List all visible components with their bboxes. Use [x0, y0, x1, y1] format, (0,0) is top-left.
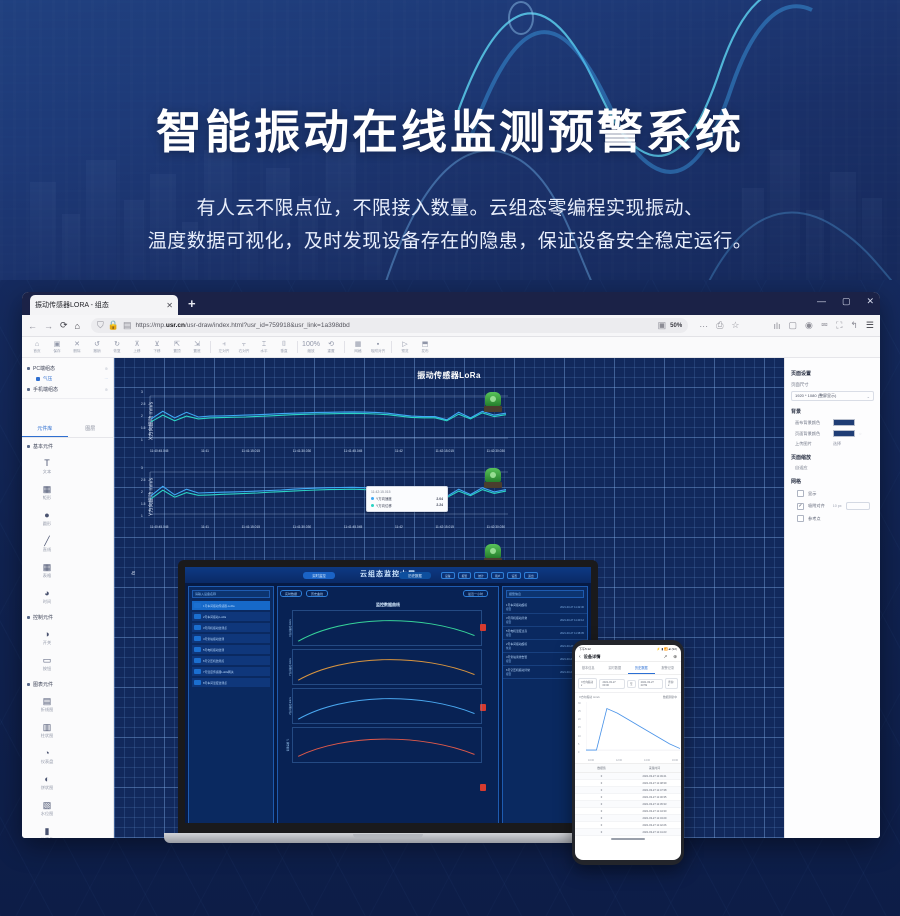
device-icon — [194, 636, 201, 641]
alarm-indicator[interactable] — [480, 624, 486, 631]
screenshot-icon[interactable]: ⛶ — [836, 320, 842, 331]
toolbar-button-17[interactable]: ▷预览 — [395, 341, 415, 354]
component-折线图[interactable]: ▤折线图 — [26, 691, 68, 717]
toolbar-button-2[interactable]: ✕删除 — [67, 341, 87, 354]
toolbar-icon: ▣ — [47, 341, 67, 349]
toolbar-icon: ⌂ — [27, 341, 47, 349]
tree-add-icon[interactable]: ⊕ — [105, 366, 108, 371]
chart-plot: X方向振动 mm/s — [292, 610, 482, 646]
phone-filter[interactable]: 查询 ▾ — [665, 678, 678, 689]
bookmark-star-icon[interactable]: ☆ — [731, 320, 739, 331]
checkbox-label: 参考点 — [808, 516, 821, 522]
xtick: 11:41:15.015 — [242, 525, 260, 529]
component-icon: ◔ — [26, 748, 68, 759]
label-canvas-bg: 画布背景颜色 — [795, 420, 829, 426]
toolbar-button-9[interactable]: ⫞左对齐 — [214, 341, 234, 354]
component-icon: ▧ — [26, 800, 68, 811]
component-grid: ◑开关▭按钮 — [22, 624, 113, 676]
checkbox-label: 显示 — [808, 491, 816, 497]
toolbar-label: 删除 — [67, 349, 87, 354]
component-水位图[interactable]: ▧水位图 — [26, 795, 68, 821]
subtitle-line-2: 温度数据可视化，及时发现设备存在的隐患，保证设备安全稳定运行。 — [0, 225, 900, 258]
component-圆形[interactable]: ●圆形 — [26, 505, 68, 531]
component-仪表盘[interactable]: ◔仪表盘 — [26, 743, 68, 769]
toolbar-icon: ⌷ — [274, 341, 294, 349]
toolbar-button-10[interactable]: ⫟右对齐 — [234, 341, 254, 354]
device-list-item[interactable]: 8号车间温度监测点 — [192, 678, 270, 687]
toolbar-button-0[interactable]: ⌂首页 — [27, 341, 47, 354]
grid-checkbox-1[interactable]: ✓吸附对齐10 px — [797, 502, 874, 510]
cell-time: 2021-03-27 11:48:39 — [628, 780, 681, 786]
browser-navbar: ← → ⟳ ⌂ ⛉ 🔒 ▤ https://mp.usr.cn/usr-draw… — [22, 315, 880, 337]
component-时间[interactable]: ◕时间 — [26, 583, 68, 609]
dashboard-nav-报警[interactable]: 报警 — [458, 572, 472, 579]
phone-table-row: 02021-03-27 11:49:41 — [575, 773, 681, 780]
phone-filter[interactable]: X方向振动 ▾ — [578, 678, 597, 689]
left-tab-1[interactable]: 图层 — [68, 421, 114, 437]
phone-refresh-status: 数据刷新中 — [663, 695, 677, 699]
phone-table-row: 02021-03-27 11:44:30 — [575, 808, 681, 815]
toolbar-label: 重置 — [321, 349, 341, 354]
account-icon[interactable]: ◉ — [805, 320, 813, 331]
component-library: 基本元件T文本▦矩形●圆形╱直线▦表格◕时间控制元件◑开关▭按钮图表元件▤折线图… — [22, 438, 113, 838]
checkbox-icon[interactable]: ✓ — [797, 503, 804, 510]
phone-table-header: 数据值采集时间 — [575, 763, 681, 773]
sidebar-icon[interactable]: ▢ — [788, 320, 797, 331]
tooltip-series-name: Y方向速度 — [376, 496, 392, 501]
grid-checkbox-0[interactable]: 显示 — [797, 490, 874, 497]
cell-time: 2021-03-27 11:46:35 — [628, 794, 681, 800]
toolbar-icon: ⬒ — [415, 341, 435, 349]
row-page-bg-color[interactable]: 页面背景颜色 ◌ — [795, 430, 874, 437]
dashboard-nav-pills: 设备报警统计用户设置退出 — [441, 572, 538, 579]
tooltip-series-value: 2.24 — [436, 503, 443, 507]
toolbar-label: 首页 — [27, 349, 47, 354]
grid-size-input[interactable] — [846, 502, 870, 510]
xtick: 11:42:30.030 — [487, 525, 505, 529]
toolbar-button-8[interactable]: ⇲置底 — [187, 341, 207, 354]
cell-value: 0 — [575, 822, 628, 828]
tooltip-time: 11:42:15.015 — [371, 490, 443, 494]
left-tab-0[interactable]: 元件库 — [22, 421, 68, 437]
page-subtitle: 有人云不限点位，不限接入数量。云组态零编程实现振动、 温度数据可视化，及时发现设… — [0, 192, 900, 258]
component-表格[interactable]: ▦表格 — [26, 557, 68, 583]
cell-time: 2021-03-27 11:44:30 — [628, 808, 681, 814]
device-icon — [194, 669, 201, 674]
component-group-0[interactable]: 基本元件 — [22, 438, 113, 453]
toolbar-button-4[interactable]: ↻恢复 — [107, 341, 127, 354]
alarm-status: 报警 — [506, 620, 527, 624]
phone-xtick: 12:00 — [616, 759, 622, 762]
toolbar-icon: ⟲ — [321, 341, 341, 349]
component-label: 仪表盘 — [26, 759, 68, 765]
component-label: 折线图 — [26, 707, 68, 713]
phone-ytick: 5 — [578, 743, 581, 746]
device-list-item[interactable]: 3号风机振动监测点 — [192, 623, 270, 632]
alarm-panel-title: 报警信息 — [509, 592, 521, 596]
phone-tab[interactable]: 基本信息 — [575, 662, 602, 674]
component-group-1[interactable]: 控制元件 — [22, 609, 113, 624]
alarm-row[interactable]: 5号电机温度过高报警2021-03-27 11:38:05 — [503, 627, 587, 640]
dashboard-tab-active[interactable]: 实时监控 — [303, 572, 335, 579]
phone-ytick: 15 — [578, 726, 581, 729]
component-icon: ◐ — [26, 774, 68, 785]
toolbar-label: 保存 — [47, 349, 67, 354]
phone-filter[interactable]: 2021-03-27 00:00 — [599, 679, 625, 689]
device-search-placeholder: 请输入设备名称 — [195, 592, 216, 596]
component-grid: T文本▦矩形●圆形╱直线▦表格◕时间 — [22, 453, 113, 609]
component-进度条[interactable]: ▮进度条 — [26, 821, 68, 838]
tree-node-label: 手机端组态 — [33, 386, 58, 393]
device-label: 5号电机振动监测 — [203, 648, 224, 652]
chart-ylabel: 设备温度 ℃ — [285, 739, 289, 752]
alarm-row[interactable]: 3号风机振动异常报警2021-03-27 11:40:12 — [503, 614, 587, 627]
phone-xtick: 14:00 — [644, 759, 650, 762]
menu-icon[interactable]: ☰ — [866, 320, 874, 331]
phone-menu-icon[interactable]: ⊕ — [673, 654, 677, 660]
status-icons: ⚡ ▮ 📶 ▰ (92) — [657, 647, 677, 651]
xtick: 11:41 — [201, 525, 209, 529]
toolbar-label: 预览 — [395, 349, 415, 354]
toolbar-separator — [210, 341, 211, 353]
tooltip-row: Y方向位移 2.24 — [371, 503, 443, 508]
alarm-row[interactable]: 1号车间振动超标报警2021-03-27 11:42:30 — [503, 601, 587, 614]
reset-color-icon[interactable]: ◌ — [859, 431, 861, 436]
cell-time: 2021-03-27 11:42:26 — [628, 822, 681, 828]
cell-value: 0 — [575, 829, 628, 835]
component-直线[interactable]: ╱直线 — [26, 531, 68, 557]
zoom-level-indicator[interactable]: 50% — [670, 323, 682, 329]
page-tree: PC端组态⊕气压···手机端组态⊕ — [22, 358, 113, 399]
time-range-select[interactable]: 最近一小时 — [463, 590, 488, 597]
cell-value: 0 — [575, 773, 628, 779]
dashboard-chart-1: Y方向振动 mm/s — [278, 649, 498, 685]
device-label: 1号车间振动传感器-LoRa — [203, 604, 235, 608]
alarm-filter-input[interactable]: 报警信息 — [506, 590, 584, 598]
phone-table-row: 02021-03-27 11:48:39 — [575, 780, 681, 787]
chart-y-direction[interactable]: Y方向振动 mm/s 32.521.51 11:40:45.04511:4111… — [136, 466, 511, 528]
phone-table-row: 02021-03-27 11:43:29 — [575, 815, 681, 822]
component-icon: ▥ — [26, 722, 68, 733]
tooltip-series-value: 2.04 — [436, 497, 443, 501]
toolbar-label: 发布 — [415, 349, 435, 354]
chip-history[interactable]: 历史曲线 — [306, 590, 328, 597]
chart-y-xticks: 11:40:45.04511:4111:41:15.01511:41:30.03… — [150, 525, 505, 529]
tab-close-icon[interactable]: ✕ — [163, 301, 173, 310]
component-grid: ▤折线图▥柱状图◔仪表盘◐饼状图▧水位图▮进度条▣数据表⌁指示灯 — [22, 691, 113, 838]
laptop-screen: 云组态监控大屏 实时监控 历史数据 设备报警统计用户设置退出 请输入设备名称 1… — [178, 560, 598, 833]
component-饼状图[interactable]: ◐饼状图 — [26, 769, 68, 795]
dashboard-nav-设备[interactable]: 设备 — [441, 572, 455, 579]
toolbar-button-7[interactable]: ⇱置顶 — [167, 341, 187, 354]
dashboard-chart-list: X方向振动 mm/sY方向振动 mm/sZ方向振动 mm/s设备温度 ℃ — [278, 610, 498, 763]
toolbar-label: 左对齐 — [214, 349, 234, 354]
device-label: 8号车间温度监测点 — [203, 681, 227, 685]
xtick: 11:41:45.045 — [344, 449, 362, 453]
toolbar-separator — [344, 341, 345, 353]
component-icon: ╱ — [26, 536, 68, 547]
cell-value: 0 — [575, 808, 628, 814]
component-icon: ▮ — [26, 826, 68, 837]
dashboard-header: 云组态监控大屏 实时监控 历史数据 设备报警统计用户设置退出 — [185, 567, 591, 583]
cell-time: 2021-03-27 11:45:33 — [628, 801, 681, 807]
device-list-item[interactable]: 1号车间振动传感器-LoRa — [192, 601, 270, 610]
save-page-icon[interactable]: ⎙ — [716, 320, 723, 331]
phone-ytick: 25 — [578, 710, 581, 713]
phone-filter-bar: X方向振动 ▾2021-03-27 00:00至2021-03-27 23:59… — [575, 675, 681, 693]
navbar-right-icons: ··· ⎙ ☆ ılı ▢ ◉ ⮹ ⛶ ↰ ☰ — [699, 320, 874, 331]
device-list-item[interactable]: 6号空压机监测点 — [192, 656, 270, 665]
toolbar-separator — [391, 341, 392, 353]
phone-ytick: 30 — [578, 702, 581, 705]
home-icon[interactable]: ⌂ — [75, 321, 80, 331]
cell-time: 2021-03-27 11:47:38 — [628, 787, 681, 793]
component-label: 表格 — [26, 573, 68, 579]
phone-table-header-cell: 数据值 — [575, 764, 628, 772]
device-list-item[interactable]: 4号泵站振动监测 — [192, 634, 270, 643]
status-time: 下午5:12 — [579, 647, 591, 651]
toolbar-icon: ⫞ — [214, 341, 234, 349]
tree-expand-icon[interactable] — [27, 367, 30, 370]
dashboard-nav-退出[interactable]: 退出 — [524, 572, 538, 579]
undo-icon[interactable]: ↰ — [850, 320, 858, 331]
component-柱状图[interactable]: ▥柱状图 — [26, 717, 68, 743]
phone-table-row: 02021-03-27 11:41:23 — [575, 829, 681, 836]
dashboard-chart-2: Z方向振动 mm/s — [278, 688, 498, 724]
toolbar-icon: ⇱ — [167, 341, 187, 349]
phone-navbar: ‹ 设备详情 ↗ ⊕ — [575, 652, 681, 662]
tooltip-series-name: Y方向位移 — [376, 503, 392, 508]
chart-ylabel: Y方向振动 mm/s — [288, 658, 292, 676]
alarm-status: 报警 — [506, 607, 527, 611]
component-icon: T — [26, 458, 68, 469]
toolbar-label: 右对齐 — [234, 349, 254, 354]
toolbar-label: 垂直 — [274, 349, 294, 354]
canvas-bg-color-swatch[interactable] — [833, 419, 855, 426]
device-icon — [194, 658, 201, 663]
back-icon[interactable]: ← — [28, 321, 37, 331]
group-label: 控制元件 — [33, 614, 53, 621]
device-search-input[interactable]: 请输入设备名称 — [192, 590, 270, 598]
right-properties-panel: 页面设置 页面尺寸 1920 * 1080 (整屏显示) ⌄ 背景 画布背景颜色… — [784, 358, 880, 838]
component-icon: ▦ — [26, 562, 68, 573]
device-icon — [194, 647, 201, 652]
chart-ylabel: Z方向振动 mm/s — [288, 697, 292, 715]
permissions-icon[interactable]: ▤ — [123, 320, 132, 331]
tree-add-icon[interactable]: ⊕ — [105, 387, 108, 392]
page-size-value: 1920 * 1080 (整屏显示) — [795, 393, 836, 399]
component-label: 开关 — [26, 640, 68, 646]
editor-toolbar: ⌂首页▣保存✕删除↺撤销↻恢复⊼上移⊻下移⇱置顶⇲置底⫞左对齐⫟右对齐⌶水平⌷垂… — [22, 337, 880, 358]
phone-tab[interactable]: 报警记录 — [655, 662, 682, 674]
phone-tabs: 基本信息实时数据历史数据报警记录 — [575, 662, 681, 675]
tree-node-1[interactable]: 手机端组态⊕ — [27, 384, 108, 395]
toolbar-button-14[interactable]: ⟲重置 — [321, 341, 341, 354]
forward-icon[interactable]: → — [44, 321, 53, 331]
chart-tooltip: 11:42:15.015 Y方向速度 2.04 Y方向位移 2.24 — [366, 486, 448, 512]
cell-value: 0 — [575, 794, 628, 800]
indicator-light-icon[interactable] — [484, 392, 502, 414]
phone-filter[interactable]: 至 — [627, 680, 636, 688]
chart-plot: 设备温度 ℃ — [292, 727, 482, 763]
component-group-2[interactable]: 图表元件 — [22, 676, 113, 691]
grid-checkbox-2[interactable]: 参考点 — [797, 515, 874, 522]
phone-xtick: 10:00 — [588, 759, 594, 762]
scale-value[interactable]: 自适应 — [795, 465, 874, 471]
toolbar-button-16[interactable]: ▪吸附对齐 — [368, 341, 388, 354]
phone-tab[interactable]: 实时数据 — [602, 662, 629, 674]
component-开关[interactable]: ◑开关 — [26, 624, 68, 650]
close-icon[interactable]: ✕ — [866, 296, 874, 307]
component-文本[interactable]: T文本 — [26, 453, 68, 479]
cell-value: 0 — [575, 801, 628, 807]
row-canvas-bg-color[interactable]: 画布背景颜色 — [795, 419, 874, 426]
dashboard-nav-统计[interactable]: 统计 — [474, 572, 488, 579]
dashboard-body: 请输入设备名称 1号车间振动传感器-LoRa2号车间振动-LoRa3号风机振动监… — [185, 583, 591, 823]
component-label: 饼状图 — [26, 785, 68, 791]
component-按钮[interactable]: ▭按钮 — [26, 650, 68, 676]
tab-title: 振动传感器LORA - 组态 — [35, 300, 163, 310]
library-icon[interactable]: ılı — [773, 321, 780, 331]
xtick: 11:41:30.030 — [293, 449, 311, 453]
device-label: 3号风机振动监测点 — [203, 626, 227, 630]
chart-ylabel: X方向振动 mm/s — [288, 619, 292, 637]
toolbar-icon: ⫟ — [234, 341, 254, 349]
toolbar-button-5[interactable]: ⊼上移 — [127, 341, 147, 354]
section-page-scale: 页面缩放 — [791, 454, 874, 461]
toolbar-button-15[interactable]: ▦网格 — [348, 341, 368, 354]
reload-icon[interactable]: ⟳ — [60, 320, 68, 331]
page-bg-color-swatch[interactable] — [833, 430, 855, 437]
new-tab-icon[interactable]: + — [188, 297, 196, 310]
label-upload-image: 上传图片 — [795, 441, 829, 447]
device-list-item[interactable]: 5号电机振动监测 — [192, 645, 270, 654]
lock-icon: 🔒 — [108, 320, 119, 331]
chip-realtime[interactable]: 实时数据 — [280, 590, 302, 597]
laptop-mockup: 云组态监控大屏 实时监控 历史数据 设备报警统计用户设置退出 请输入设备名称 1… — [178, 560, 598, 860]
toolbar-label: 水平 — [254, 349, 274, 354]
xtick: 11:40:45.045 — [150, 525, 168, 529]
toolbar-button-3[interactable]: ↺撤销 — [87, 341, 107, 354]
checkbox-icon[interactable] — [797, 490, 804, 497]
toolbar-label: 恢复 — [107, 349, 127, 354]
page-size-select[interactable]: 1920 * 1080 (整屏显示) ⌄ — [791, 391, 874, 401]
chart-x-direction[interactable]: X方向振动 mm/s 32.521.51 11:40:45.04511:4111… — [136, 390, 511, 452]
toolbar-button-11[interactable]: ⌶水平 — [254, 341, 274, 354]
xtick: 11:42 — [395, 449, 403, 453]
toolbar-button-6[interactable]: ⊻下移 — [147, 341, 167, 354]
toolbar-button-18[interactable]: ⬒发布 — [415, 341, 435, 354]
device-label: 4号泵站振动监测 — [203, 637, 224, 641]
phone-page-title: 设备详情 — [584, 654, 601, 660]
phone-tab[interactable]: 历史数据 — [628, 662, 655, 674]
phone-filter[interactable]: 2021-03-27 23:59 — [638, 679, 664, 689]
tree-expand-icon[interactable] — [27, 388, 30, 391]
toolbar-icon: ⇲ — [187, 341, 207, 349]
page-icon — [36, 377, 40, 381]
minimize-icon[interactable]: — — [817, 296, 826, 307]
group-label: 图表元件 — [33, 681, 53, 688]
alarm-status: 报警 — [506, 672, 530, 676]
toolbar-label: 下移 — [147, 349, 167, 354]
translate-icon[interactable]: ⮹ — [821, 320, 828, 331]
xtick: 11:42:15.015 — [436, 449, 454, 453]
dashboard-tab-history[interactable]: 历史数据 — [399, 572, 431, 579]
tree-child-item[interactable]: 气压··· — [27, 374, 108, 384]
device-list-item[interactable]: 2号车间振动-LoRa — [192, 612, 270, 621]
group-expand-icon — [27, 616, 30, 619]
left-panel: PC端组态⊕气压···手机端组态⊕ 元件库图层 基本元件T文本▦矩形●圆形╱直线… — [22, 358, 114, 838]
dashboard-chart-3: 设备温度 ℃ — [278, 727, 498, 763]
reader-mode-icon[interactable]: ▣ — [658, 320, 667, 331]
toolbar-button-13[interactable]: 100%缩放 — [301, 341, 321, 354]
window-controls: — ▢ ✕ — [817, 296, 874, 307]
group-expand-icon — [27, 445, 30, 448]
chart-x-plot — [136, 390, 511, 446]
toolbar-icon: ↺ — [87, 341, 107, 349]
cell-time: 2021-03-27 11:49:41 — [628, 773, 681, 779]
phone-table-row: 02021-03-27 11:46:35 — [575, 794, 681, 801]
phone-table-row: 02021-03-27 11:47:38 — [575, 787, 681, 794]
dashboard-nav-设置[interactable]: 设置 — [507, 572, 521, 579]
toolbar-icon: ↻ — [107, 341, 127, 349]
toolbar-button-1[interactable]: ▣保存 — [47, 341, 67, 354]
phone-chart-xticks: 10:0012:0014:0016:00 — [588, 759, 678, 762]
phone-share-icon[interactable]: ↗ — [663, 654, 667, 660]
toolbar-icon: ⌶ — [254, 341, 274, 349]
tree-node-label: PC端组态 — [33, 365, 55, 372]
maximize-icon[interactable]: ▢ — [842, 296, 851, 307]
checkbox-icon[interactable] — [797, 515, 804, 522]
device-list-item[interactable]: 7号温度传感器LoRa网关 — [192, 667, 270, 676]
shield-icon[interactable]: ⛉ — [97, 320, 104, 331]
chart-z-ylabel: /s — [131, 571, 137, 575]
phone-chart-yticks: 302520151050 — [578, 702, 581, 754]
alarm-time: 2021-03-27 11:42:30 — [560, 606, 584, 609]
more-icon[interactable]: ··· — [699, 321, 708, 331]
phone-table-row: 02021-03-27 11:45:33 — [575, 801, 681, 808]
phone-table-body: 02021-03-27 11:49:4102021-03-27 11:48:39… — [575, 773, 681, 836]
tree-child-label: 气压 — [43, 376, 52, 382]
tree-node-0[interactable]: PC端组态⊕ — [27, 363, 108, 374]
grid-size-label: 10 px — [833, 504, 842, 508]
device-label: 6号空压机监测点 — [203, 659, 224, 663]
toolbar-icon: ▪ — [368, 341, 388, 349]
indicator-light-icon[interactable] — [484, 468, 502, 490]
dashboard-nav-用户[interactable]: 用户 — [491, 572, 505, 579]
url-bar[interactable]: ⛉ 🔒 ▤ https://mp.usr.cn/usr-draw/index.h… — [91, 318, 688, 333]
upload-value[interactable]: 选择 — [833, 441, 841, 447]
left-panel-tabs: 元件库图层 — [22, 421, 113, 438]
component-label: 时间 — [26, 599, 68, 605]
browser-tab[interactable]: 振动传感器LORA - 组态 ✕ — [30, 295, 178, 315]
toolbar-icon: ✕ — [67, 341, 87, 349]
toolbar-button-12[interactable]: ⌷垂直 — [274, 341, 294, 354]
phone-chart-label: X方向振动 mm/s — [579, 695, 600, 699]
cell-time: 2021-03-27 11:41:23 — [628, 829, 681, 835]
alarm-indicator[interactable] — [480, 784, 486, 791]
xtick: 11:40:45.045 — [150, 449, 168, 453]
chart-plot: Z方向振动 mm/s — [292, 688, 482, 724]
tree-child-actions[interactable]: ··· — [105, 377, 109, 381]
label-page-size: 页面尺寸 — [791, 382, 874, 388]
component-icon: ◑ — [26, 629, 68, 640]
xtick: 11:42:30.030 — [487, 449, 505, 453]
row-upload-image[interactable]: 上传图片 选择 — [795, 441, 874, 447]
device-icon — [194, 603, 201, 608]
component-矩形[interactable]: ▦矩形 — [26, 479, 68, 505]
phone-back-icon[interactable]: ‹ — [579, 654, 581, 660]
